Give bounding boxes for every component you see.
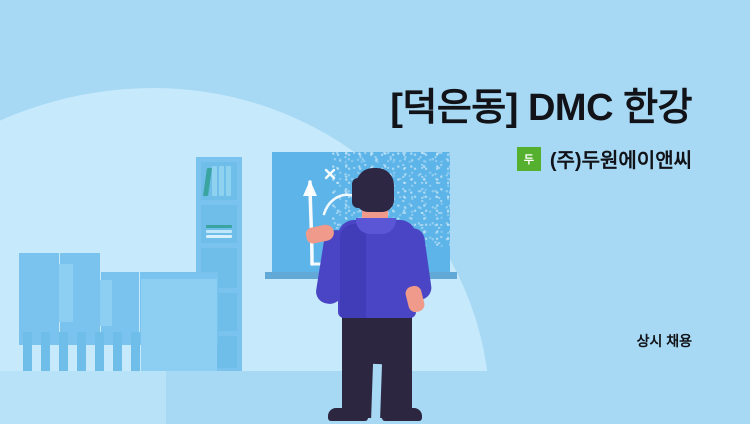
book-item [206, 235, 232, 238]
person-right-shoe [382, 408, 422, 421]
person-head [356, 168, 394, 212]
cabinet-panel [100, 280, 112, 326]
person-left-shoe [328, 408, 368, 421]
cabinet-leg [77, 332, 86, 371]
company-badge: 두 [517, 147, 541, 171]
book-item [226, 166, 231, 196]
book-item [206, 225, 232, 228]
cabinet-leg [59, 332, 68, 371]
sofa-illustration [141, 279, 217, 371]
page-title: [덕은동] DMC 한강 [390, 76, 692, 131]
businessman-illustration [300, 168, 460, 424]
floor-light-area [0, 371, 166, 424]
cabinet-leg [41, 332, 50, 371]
cabinet-leg [113, 332, 122, 371]
book-item [219, 166, 224, 196]
book-item [203, 168, 212, 196]
cabinet-leg [95, 332, 104, 371]
book-item [212, 166, 217, 196]
company-row: 두 (주)두원에이앤씨 [517, 144, 692, 173]
bookshelf-shelf-1 [201, 162, 237, 200]
cabinet-leg [131, 332, 140, 371]
bookshelf-shelf-2 [201, 205, 237, 243]
book-item [206, 230, 232, 233]
cabinet-leg [23, 332, 32, 371]
recruitment-banner: [덕은동] DMC 한강 두 (주)두원에이앤씨 상시 채용 [0, 0, 750, 424]
person-torso-shading [340, 224, 366, 318]
cabinet-panel [59, 264, 73, 322]
recruit-status-label: 상시 채용 [637, 331, 692, 351]
company-name: (주)두원에이앤씨 [550, 144, 692, 173]
